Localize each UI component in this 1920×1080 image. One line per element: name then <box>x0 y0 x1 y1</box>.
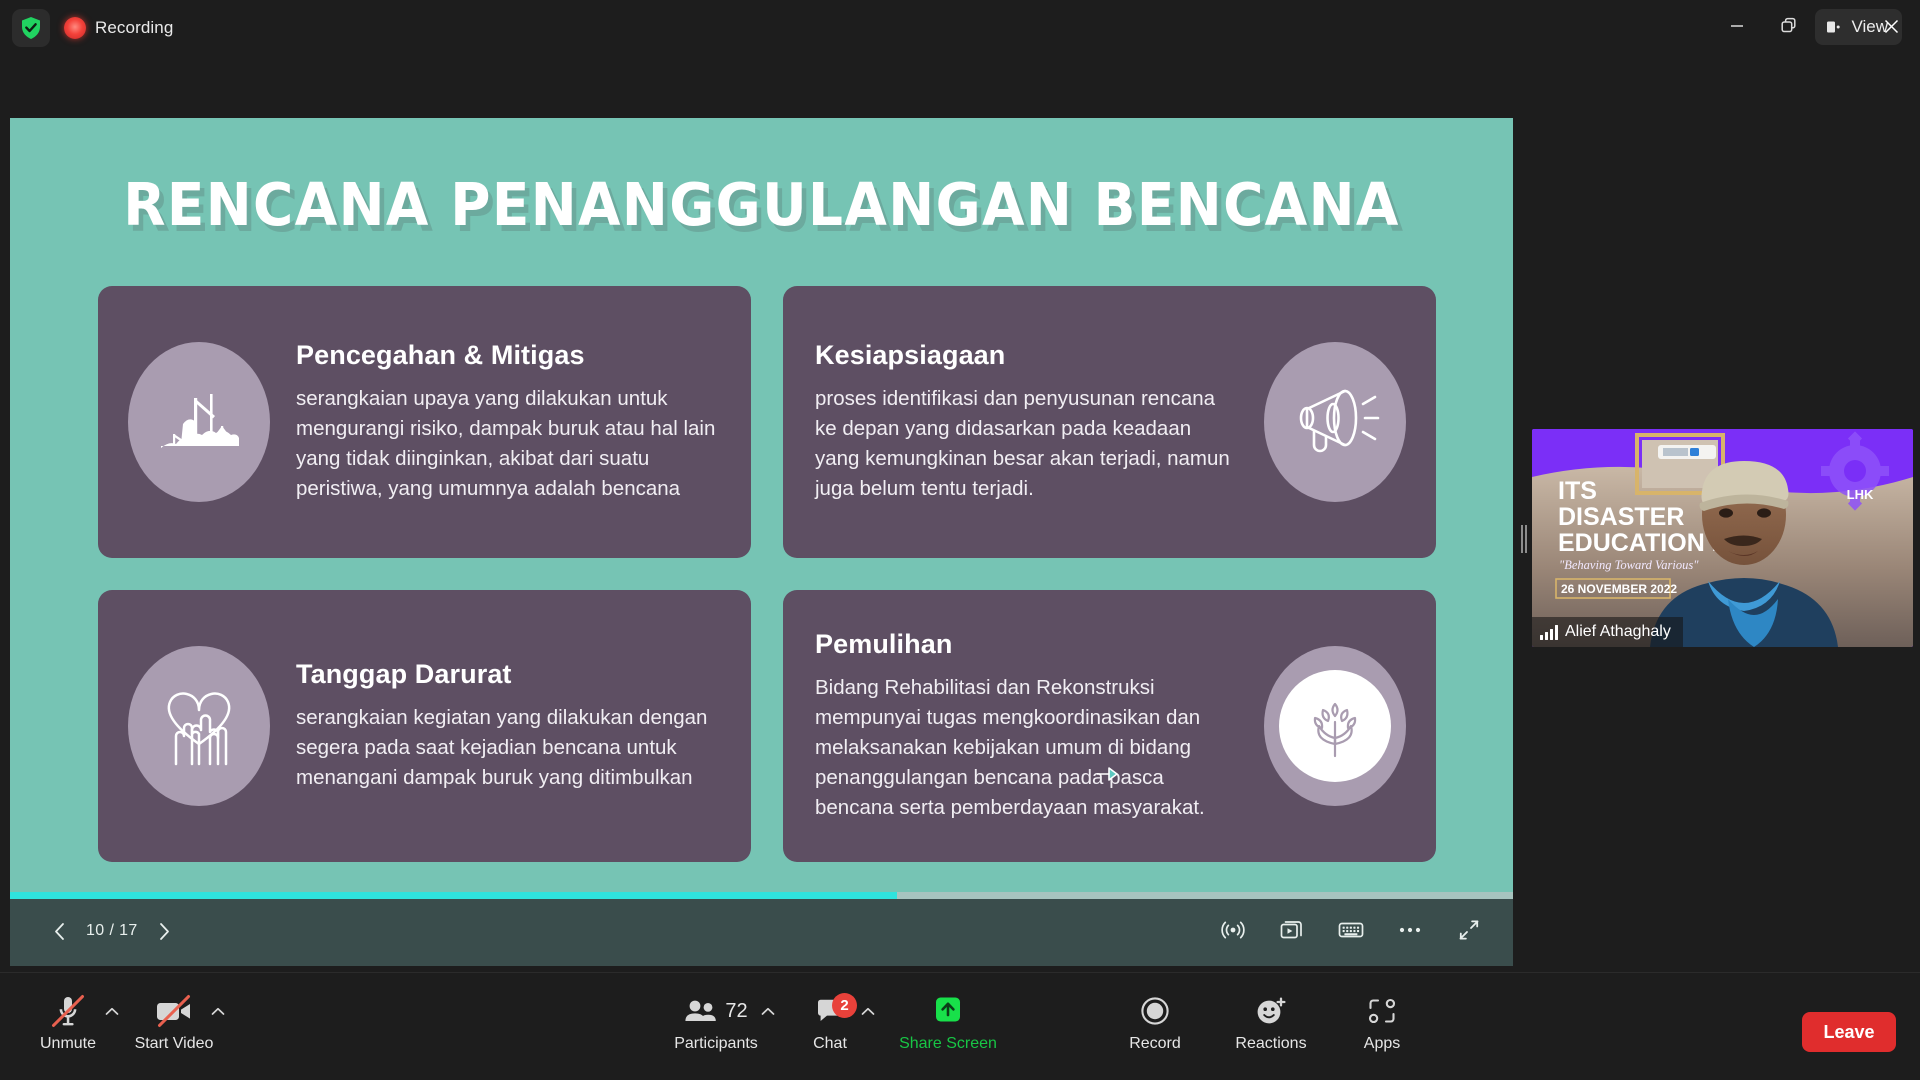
video-off-icon <box>155 991 193 1031</box>
card-heading: Kesiapsiagaan <box>815 340 1238 371</box>
leave-button[interactable]: Leave <box>1802 1012 1896 1052</box>
meeting-toolbar: Unmute Start Video <box>0 972 1920 1080</box>
microphone-muted-icon <box>55 991 81 1031</box>
card-pemulihan[interactable]: Pemulihan Bidang Rehabilitasi dan Rekons… <box>783 590 1436 862</box>
keyboard-icon[interactable] <box>1335 913 1367 947</box>
toolbar-item-label: Chat <box>813 1035 847 1053</box>
title-bar: Recording View <box>0 0 1920 58</box>
toolbar-item-label: Participants <box>674 1035 758 1053</box>
presenter-view-icon[interactable] <box>1276 913 1308 947</box>
recording-label: Recording <box>95 18 173 38</box>
participant-video-thumbnail[interactable]: LHK ITS DISASTER EDUCATION 1 "Behaving T… <box>1532 429 1913 647</box>
card-kesiapsiagaan[interactable]: Kesiapsiagaan proses identifikasi dan pe… <box>783 286 1436 558</box>
slide-title: RENCANA PENANGGULANGAN BENCANA <box>63 170 1461 239</box>
heart-hands-icon <box>128 646 270 806</box>
slide-progress-track[interactable] <box>10 892 1513 899</box>
reactions-smiley-icon <box>1255 991 1287 1031</box>
slide-progress-fill <box>10 892 897 899</box>
next-slide-button[interactable] <box>150 915 180 947</box>
svg-text:26 NOVEMBER 2022: 26 NOVEMBER 2022 <box>1561 582 1677 596</box>
start-video-button[interactable]: Start Video <box>114 981 234 1053</box>
card-body: serangkaian upaya yang dilakukan untuk m… <box>296 384 719 504</box>
toolbar-item-label: Record <box>1129 1035 1181 1053</box>
restore-button[interactable] <box>1766 6 1812 46</box>
share-screen-button[interactable]: Share Screen <box>878 981 1018 1053</box>
participant-name-overlay: Alief Athaghaly <box>1532 617 1683 647</box>
svg-text:EDUCATION 1: EDUCATION 1 <box>1558 529 1726 557</box>
card-tanggap-darurat[interactable]: Tanggap Darurat serangkaian kegiatan yan… <box>98 590 751 862</box>
card-body: serangkaian kegiatan yang dilakukan deng… <box>296 703 719 793</box>
chat-button[interactable]: 2 Chat <box>782 981 878 1053</box>
svg-text:"Behaving Toward Various": "Behaving Toward Various" <box>1559 558 1699 572</box>
card-heading: Pemulihan <box>815 629 1238 660</box>
toolbar-right-group: Record Reactions <box>1100 981 1432 1053</box>
card-body: Bidang Rehabilitasi dan Rekonstruksi mem… <box>815 673 1238 823</box>
record-button[interactable]: Record <box>1100 981 1210 1053</box>
more-options-icon[interactable] <box>1394 913 1426 947</box>
participants-button[interactable]: 72 Participants <box>650 981 782 1053</box>
card-heading: Tanggap Darurat <box>296 659 719 690</box>
svg-text:ITS: ITS <box>1558 477 1597 505</box>
toolbar-item-label: Share Screen <box>899 1035 997 1053</box>
chat-chevron-icon[interactable] <box>860 1003 876 1019</box>
video-options-chevron-icon[interactable] <box>210 1003 226 1019</box>
toolbar-item-label: Start Video <box>135 1035 214 1053</box>
slide-counter: 10 / 17 <box>86 922 138 940</box>
apps-button[interactable]: Apps <box>1332 981 1432 1053</box>
layout-icon <box>1825 18 1843 36</box>
presentation-control-bar: 10 / 17 <box>10 897 1513 966</box>
video-panel-drag-handle[interactable] <box>1521 525 1528 553</box>
card-heading: Pencegahan & Mitigas <box>296 340 719 371</box>
toolbar-item-label: Reactions <box>1235 1035 1306 1053</box>
card-pencegahan-mitigas[interactable]: Pencegahan & Mitigas serangkaian upaya y… <box>98 286 751 558</box>
svg-text:LHK: LHK <box>1847 487 1874 502</box>
chat-unread-badge: 2 <box>832 993 857 1018</box>
toolbar-left-group: Unmute Start Video <box>22 981 234 1053</box>
tree-hands-icon <box>1264 646 1406 806</box>
participants-icon: 72 <box>684 991 747 1031</box>
shared-screen-region: RENCANA PENANGGULANGAN BENCANA <box>10 118 1513 966</box>
signal-bars-icon <box>1540 625 1558 640</box>
close-button[interactable] <box>1868 6 1914 46</box>
share-screen-icon <box>929 991 967 1031</box>
exit-fullscreen-icon[interactable] <box>1453 913 1485 947</box>
toolbar-center-group: 72 Participants 2 Chat <box>650 981 1018 1053</box>
megaphone-icon <box>1264 342 1406 502</box>
presentation-slide[interactable]: RENCANA PENANGGULANGAN BENCANA <box>10 118 1513 897</box>
laser-pointer-icon[interactable] <box>1217 913 1249 947</box>
participant-video-feed: LHK ITS DISASTER EDUCATION 1 "Behaving T… <box>1532 429 1913 647</box>
recording-indicator-icon <box>64 17 86 39</box>
apps-icon <box>1367 991 1397 1031</box>
disaster-crane-icon <box>128 342 270 502</box>
previous-slide-button[interactable] <box>44 915 74 947</box>
minimize-button[interactable] <box>1714 6 1760 46</box>
participants-count: 72 <box>725 1000 747 1023</box>
zoom-meeting-window: Recording View RENCANA PENANG <box>0 0 1920 1080</box>
svg-text:DISASTER: DISASTER <box>1558 503 1684 531</box>
card-body: proses identifikasi dan penyusunan renca… <box>815 384 1238 504</box>
mouse-cursor <box>1095 763 1117 785</box>
participants-chevron-icon[interactable] <box>760 1003 776 1019</box>
toolbar-item-label: Unmute <box>40 1035 96 1053</box>
participant-name: Alief Athaghaly <box>1565 623 1671 641</box>
reactions-button[interactable]: Reactions <box>1210 981 1332 1053</box>
toolbar-item-label: Apps <box>1364 1035 1400 1053</box>
shield-check-icon[interactable] <box>12 9 50 47</box>
concept-cards-grid: Pencegahan & Mitigas serangkaian upaya y… <box>98 286 1436 862</box>
chat-bubble-icon: 2 <box>815 991 845 1031</box>
unmute-button[interactable]: Unmute <box>22 981 114 1053</box>
record-circle-icon <box>1140 991 1170 1031</box>
